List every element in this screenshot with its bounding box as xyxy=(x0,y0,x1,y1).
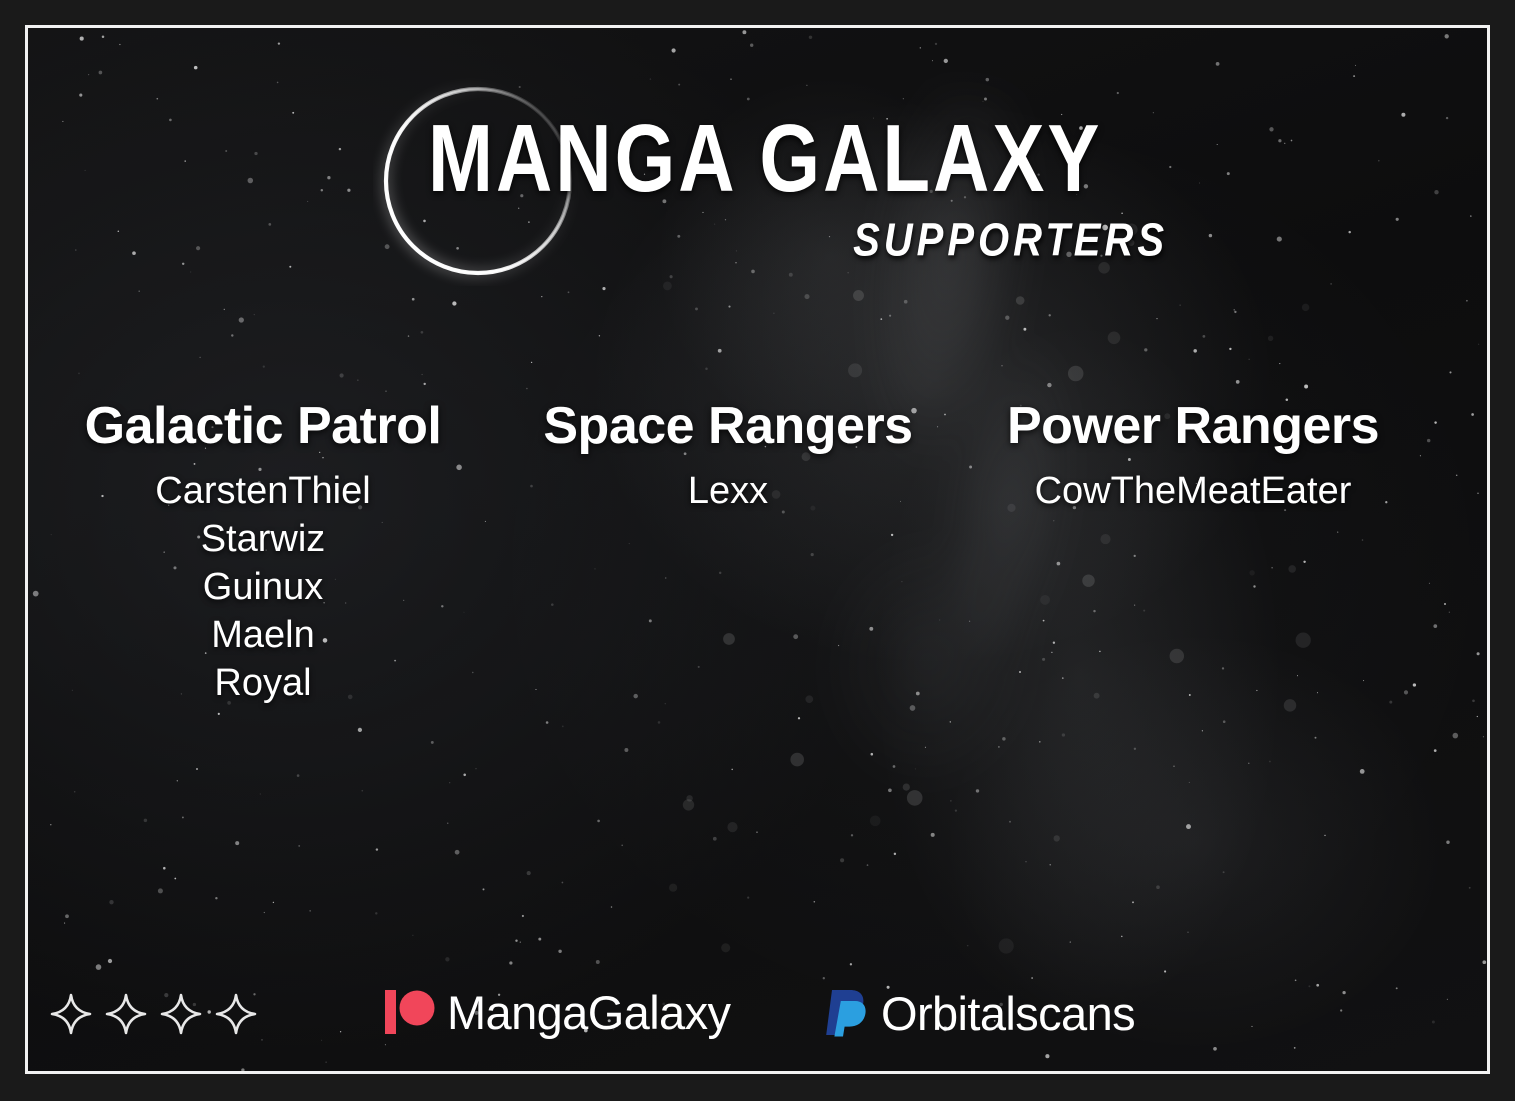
poster-footer: MangaGalaxy Orbitalscans xyxy=(28,975,1487,1075)
patreon-label: MangaGalaxy xyxy=(447,989,730,1036)
supporter-name: Lexx xyxy=(498,468,958,516)
logo-block: MANGA GALAXY SUPPORTERS xyxy=(428,113,1218,260)
supporter-name: CowTheMeatEater xyxy=(958,468,1428,516)
sparkle-group xyxy=(50,993,257,1035)
tier-title: Space Rangers xyxy=(498,398,958,454)
tier-column-power-rangers: Power Rangers CowTheMeatEater xyxy=(958,398,1428,516)
tier-column-space-rangers: Space Rangers Lexx xyxy=(498,398,958,516)
supporter-name: Royal xyxy=(28,660,498,708)
patreon-icon xyxy=(383,987,435,1037)
poster-header: MANGA GALAXY SUPPORTERS xyxy=(28,28,1487,328)
tier-title: Galactic Patrol xyxy=(28,398,498,454)
page-subtitle: SUPPORTERS xyxy=(428,215,1168,267)
supporter-name: Guinux xyxy=(28,564,498,612)
patreon-link[interactable]: MangaGalaxy xyxy=(383,987,730,1037)
tier-name-list: CowTheMeatEater xyxy=(958,468,1428,516)
tier-column-galactic-patrol: Galactic Patrol CarstenThiel Starwiz Gui… xyxy=(28,398,498,708)
tier-name-list: Lexx xyxy=(498,468,958,516)
paypal-link[interactable]: Orbitalscans xyxy=(823,987,1135,1039)
supporter-name: CarstenThiel xyxy=(28,468,498,516)
supporters-poster: MANGA GALAXY SUPPORTERS Galactic Patrol … xyxy=(0,0,1515,1101)
supporter-name: Starwiz xyxy=(28,516,498,564)
page-title: MANGA GALAXY xyxy=(428,113,1218,203)
sparkle-icon xyxy=(105,993,147,1035)
sparkle-icon xyxy=(160,993,202,1035)
tier-name-list: CarstenThiel Starwiz Guinux Maeln Royal xyxy=(28,468,498,707)
paypal-icon xyxy=(823,987,869,1039)
sparkle-icon xyxy=(50,993,92,1035)
sparkle-icon xyxy=(215,993,257,1035)
paypal-label: Orbitalscans xyxy=(881,990,1135,1037)
tier-title: Power Rangers xyxy=(958,398,1428,454)
supporter-name: Maeln xyxy=(28,612,498,660)
tier-columns: Galactic Patrol CarstenThiel Starwiz Gui… xyxy=(28,398,1487,708)
